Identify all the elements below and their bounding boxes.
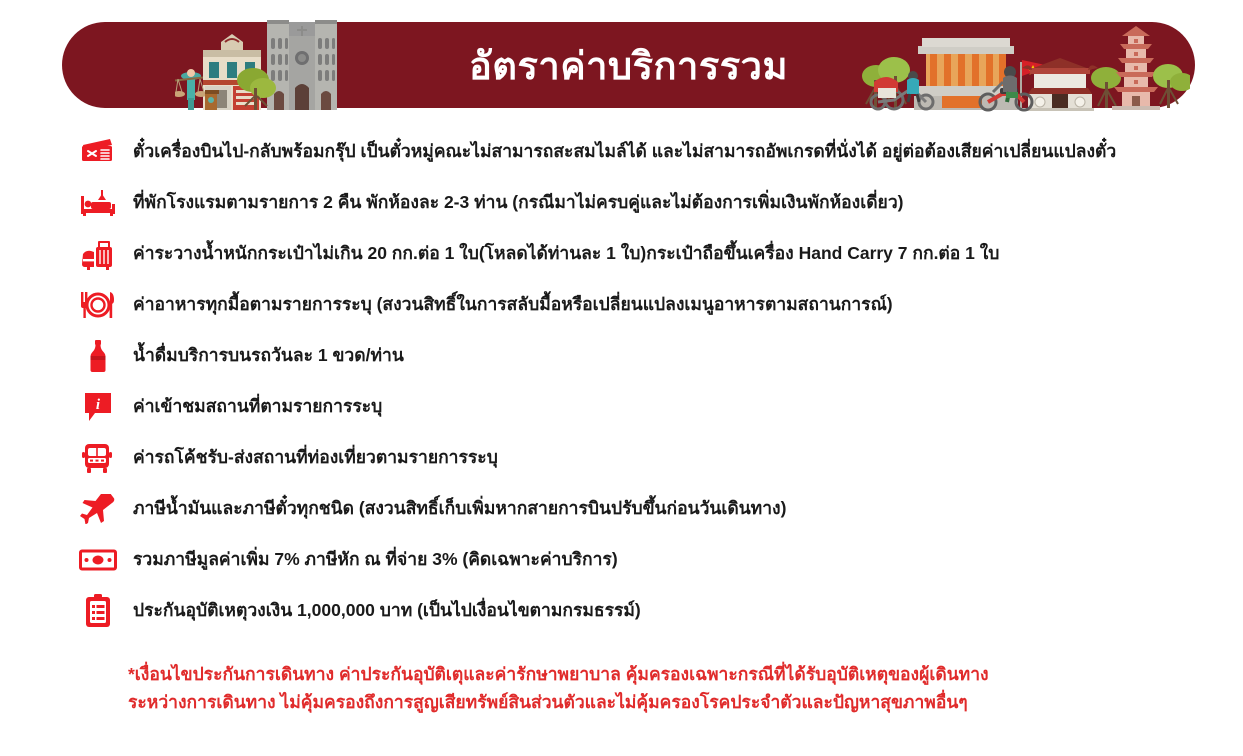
list-item: ภาษีน้ำมันและภาษีตั๋วทุกชนิด (สงวนสิทธิ์… [0,483,1243,534]
list-item-text: ที่พักโรงแรมตามรายการ 2 คืน พักห้องละ 2-… [133,192,903,214]
airplane-icon [76,489,120,529]
list-item: i ค่าเข้าชมสถานที่ตามรายการระบุ [0,381,1243,432]
footnote-line-1: *เงื่อนไขประกันการเดินทาง ค่าประกันอุบัต… [128,660,1228,688]
hotel-bed-icon [76,183,120,223]
list-item-text: ตั๋วเครื่องบินไป-กลับพร้อมกรุ๊ป เป็นตั๋ว… [133,141,1116,163]
inclusions-list: ตั๋วเครื่องบินไป-กลับพร้อมกรุ๊ป เป็นตั๋ว… [0,126,1243,636]
list-item: น้ำดื่มบริการบนรถวันละ 1 ขวด/ท่าน [0,330,1243,381]
header-banner: อัตราค่าบริการรวม [62,22,1195,108]
meal-icon [76,285,120,325]
list-item-text: ค่ารถโค้ชรับ-ส่งสถานที่ท่องเที่ยวตามรายก… [133,447,498,469]
footnote-line-2: ระหว่างการเดินทาง ไม่คุ้มครองถึงการสูญเส… [128,688,1228,716]
list-item: ค่าอาหารทุกมื้อตามรายการระบุ (สงวนสิทธิ์… [0,279,1243,330]
luggage-icon [76,234,120,274]
flight-ticket-icon [76,132,120,172]
list-item: ที่พักโรงแรมตามรายการ 2 คืน พักห้องละ 2-… [0,177,1243,228]
coach-bus-icon [76,438,120,478]
list-item-text: ค่าระวางน้ำหนักกระเป๋าไม่เกิน 20 กก.ต่อ … [133,243,999,265]
list-item: ตั๋วเครื่องบินไป-กลับพร้อมกรุ๊ป เป็นตั๋ว… [0,126,1243,177]
list-item: ประกันอุบัติเหตุวงเงิน 1,000,000 บาท (เป… [0,585,1243,636]
list-item-text: ภาษีน้ำมันและภาษีตั๋วทุกชนิด (สงวนสิทธิ์… [133,498,786,520]
list-item-text: ค่าเข้าชมสถานที่ตามรายการระบุ [133,396,382,418]
insurance-footnote: *เงื่อนไขประกันการเดินทาง ค่าประกันอุบัต… [128,660,1228,717]
banknote-icon [76,540,120,580]
page-title: อัตราค่าบริการรวม [62,22,1195,108]
information-icon: i [76,387,120,427]
water-bottle-icon [76,336,120,376]
list-item-text: ค่าอาหารทุกมื้อตามรายการระบุ (สงวนสิทธิ์… [133,294,893,316]
list-item-text: ประกันอุบัติเหตุวงเงิน 1,000,000 บาท (เป… [133,600,641,622]
list-item: ค่ารถโค้ชรับ-ส่งสถานที่ท่องเที่ยวตามรายก… [0,432,1243,483]
list-item: ค่าระวางน้ำหนักกระเป๋าไม่เกิน 20 กก.ต่อ … [0,228,1243,279]
list-item-text: รวมภาษีมูลค่าเพิ่ม 7% ภาษีหัก ณ ที่จ่าย … [133,549,618,571]
clipboard-insurance-icon [76,591,120,631]
list-item-text: น้ำดื่มบริการบนรถวันละ 1 ขวด/ท่าน [133,345,404,367]
list-item: รวมภาษีมูลค่าเพิ่ม 7% ภาษีหัก ณ ที่จ่าย … [0,534,1243,585]
